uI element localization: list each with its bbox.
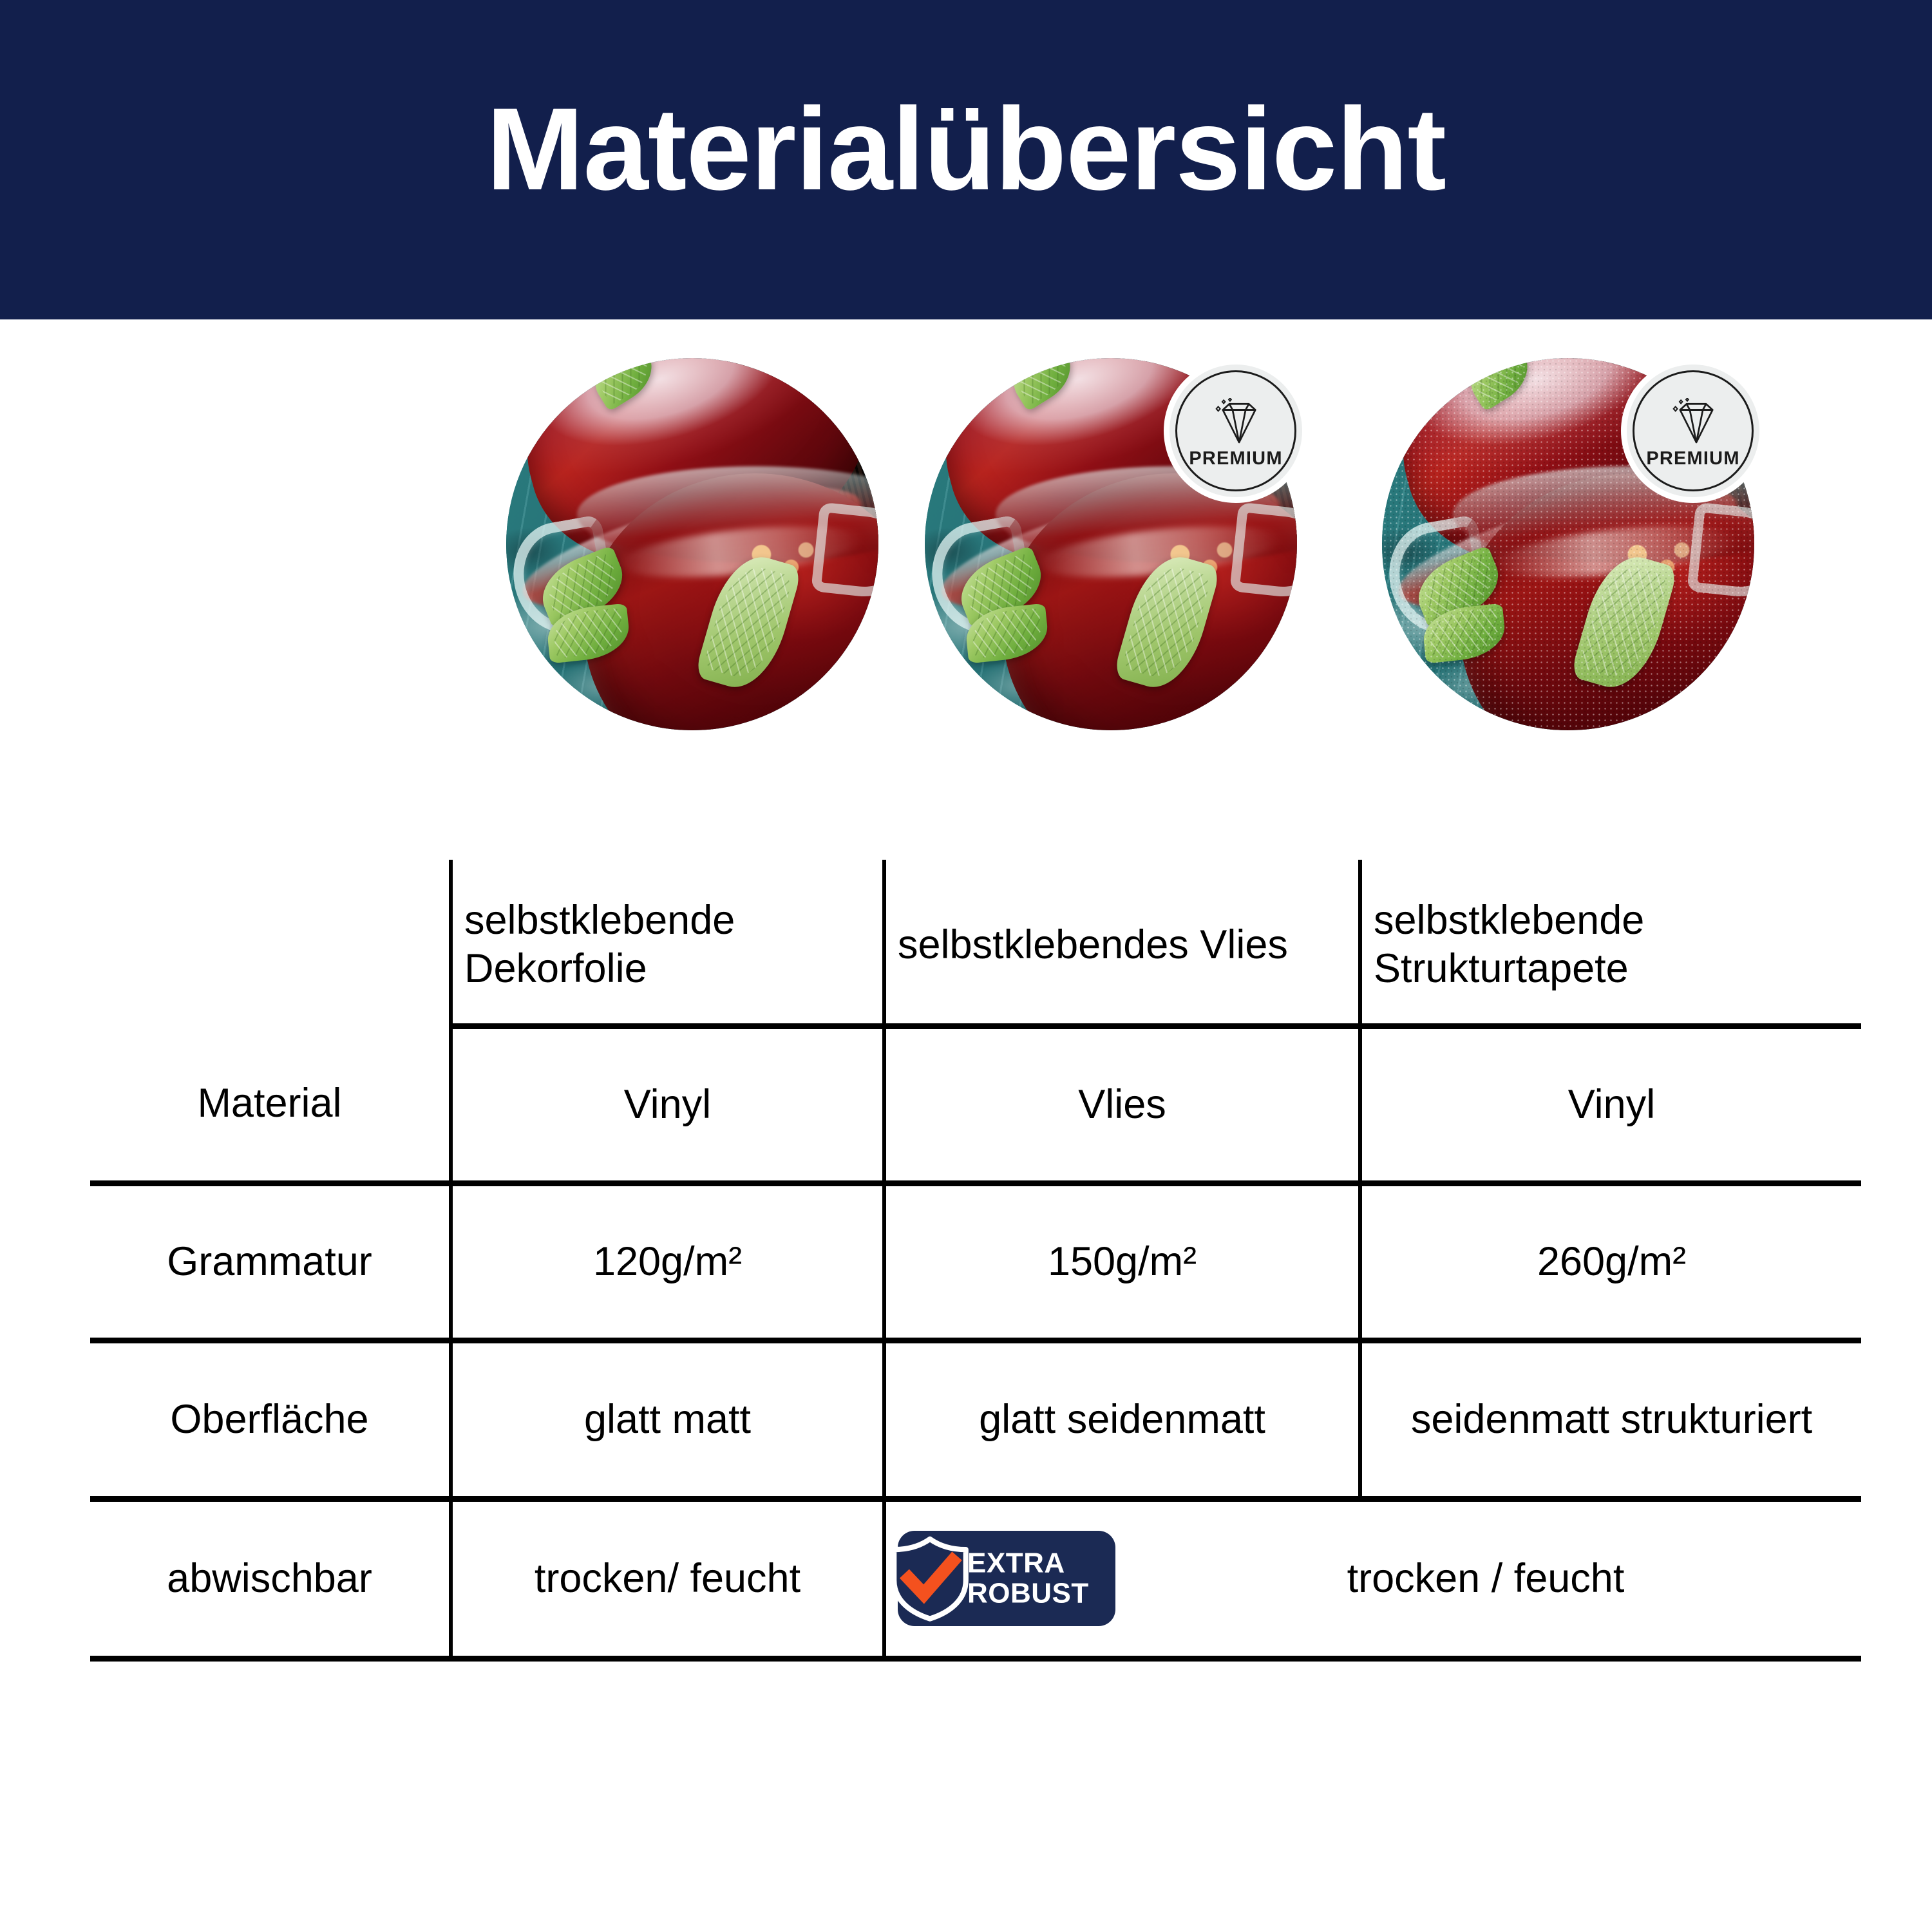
table-header-row: selbstklebende Dekorfolie selbstklebende… xyxy=(90,860,1861,1026)
product-card-strukturtapete[interactable]: PREMIUM xyxy=(1382,358,1754,750)
premium-badge-label: PREMIUM xyxy=(1646,450,1739,468)
extra-robust-badge: EXTRA ROBUST xyxy=(898,1531,1115,1626)
cell-oberflaeche-strukturtapete: seidenmatt strukturiert xyxy=(1360,1340,1861,1499)
cell-grammatur-vlies: 150g/m² xyxy=(884,1183,1360,1340)
cell-abwischbar-dekorfolie: trocken/ feucht xyxy=(451,1499,884,1658)
material-overview-page: Materialübersicht xyxy=(0,0,1932,1932)
cell-material-strukturtapete: Vinyl xyxy=(1360,1026,1861,1183)
cell-grammatur-dekorfolie: 120g/m² xyxy=(451,1183,884,1340)
cell-material-dekorfolie: Vinyl xyxy=(451,1026,884,1183)
premium-badge-label: PREMIUM xyxy=(1189,450,1282,468)
row-label-abwischbar: abwischbar xyxy=(90,1499,451,1658)
cell-oberflaeche-dekorfolie: glatt matt xyxy=(451,1340,884,1499)
cell-oberflaeche-vlies: glatt seidenmatt xyxy=(884,1340,1360,1499)
material-spec-table: selbstklebende Dekorfolie selbstklebende… xyxy=(90,860,1861,1662)
cell-abwischbar-merged: EXTRA ROBUST trocken / feucht xyxy=(884,1499,1861,1658)
page-header-band: Materialübersicht xyxy=(0,0,1932,319)
cell-material-vlies: Vlies xyxy=(884,1026,1360,1183)
column-header-strukturtapete: selbstklebende Strukturtapete xyxy=(1360,860,1861,1026)
diamond-icon xyxy=(1208,398,1264,446)
column-header-vlies: selbstklebendes Vlies xyxy=(884,860,1360,1026)
premium-badge-vlies: PREMIUM xyxy=(1170,365,1302,497)
shield-check-icon xyxy=(886,1535,974,1622)
extra-robust-line-1: EXTRA xyxy=(967,1548,1089,1578)
table-row-material: Material Vinyl Vlies Vinyl xyxy=(90,1026,1861,1183)
row-label-grammatur: Grammatur xyxy=(90,1183,451,1340)
row-label-material: Material xyxy=(90,1026,451,1183)
column-header-dekorfolie: selbstklebende Dekorfolie xyxy=(451,860,884,1026)
cell-abwischbar-merged-text: trocken / feucht xyxy=(1115,1555,1850,1602)
product-images-row: PREMIUM xyxy=(0,358,1932,757)
table-row-oberflaeche: Oberfläche glatt matt glatt seidenmatt s… xyxy=(90,1340,1861,1499)
row-label-oberflaeche: Oberfläche xyxy=(90,1340,451,1499)
product-image-dekorfolie xyxy=(506,358,878,730)
product-card-vlies[interactable]: PREMIUM xyxy=(925,358,1297,750)
premium-badge-strukturtapete: PREMIUM xyxy=(1627,365,1759,497)
table-corner-cell xyxy=(90,860,451,1026)
product-card-dekorfolie[interactable] xyxy=(506,358,878,750)
table-row-grammatur: Grammatur 120g/m² 150g/m² 260g/m² xyxy=(90,1183,1861,1340)
extra-robust-line-2: ROBUST xyxy=(967,1578,1089,1609)
diamond-icon xyxy=(1665,398,1721,446)
table-row-abwischbar: abwischbar trocken/ feucht EXTRA ROBUST xyxy=(90,1499,1861,1658)
page-title: Materialübersicht xyxy=(0,90,1932,207)
cell-grammatur-strukturtapete: 260g/m² xyxy=(1360,1183,1861,1340)
